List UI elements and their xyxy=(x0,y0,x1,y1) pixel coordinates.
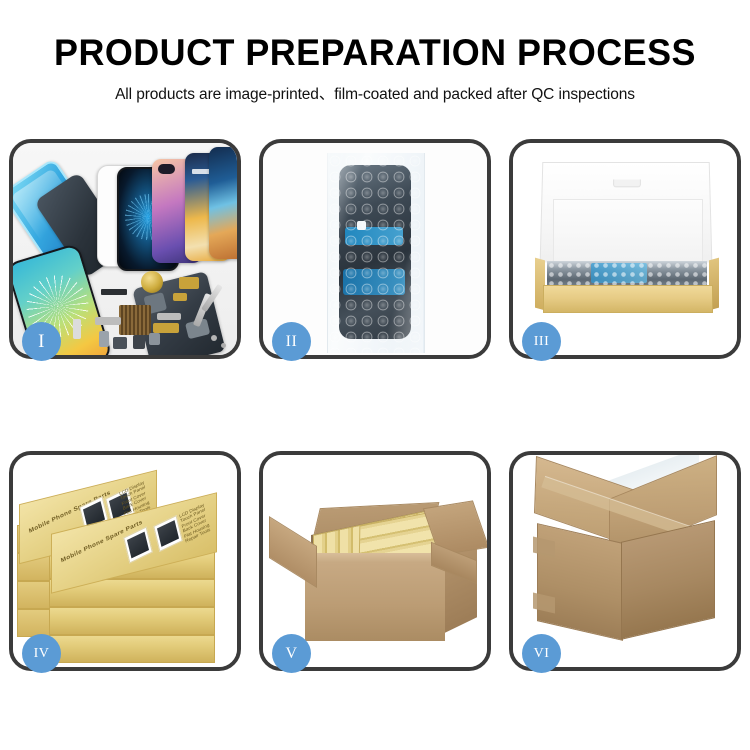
step-panel-2[interactable]: II xyxy=(259,139,491,359)
part-vibrator xyxy=(133,335,145,349)
process-step-grid: I II III xyxy=(9,139,741,671)
box-contents-bubble-wrapped xyxy=(547,261,707,287)
phone-gradient-device xyxy=(209,147,237,259)
sealed-carton-side-face xyxy=(621,520,715,640)
part-screw-b xyxy=(221,343,226,348)
step-panel-1[interactable]: I xyxy=(9,139,241,359)
stacked-box-front-3 xyxy=(49,607,215,635)
part-screw-a xyxy=(211,335,217,341)
part-flex-cable-b xyxy=(173,293,187,301)
part-gold-coil xyxy=(141,271,163,293)
part-speaker-strip xyxy=(101,289,127,295)
step-badge-4: IV xyxy=(22,634,61,673)
part-bracket-b xyxy=(157,313,181,320)
page-header: PRODUCT PREPARATION PROCESS All products… xyxy=(0,0,750,104)
step-badge-1: I xyxy=(22,322,61,361)
bubble-wrap-gloss xyxy=(327,153,423,353)
step-badge-5: V xyxy=(272,634,311,673)
part-sim-tray xyxy=(99,331,109,347)
part-flex-cable-a xyxy=(179,277,199,289)
part-connector-grid xyxy=(119,305,151,335)
carton-front-face xyxy=(305,563,445,641)
part-bracket-a xyxy=(95,317,121,325)
part-flex-cable-c xyxy=(153,323,179,333)
step-badge-2: II xyxy=(272,322,311,361)
box-foam-insert xyxy=(553,199,703,267)
page-title: PRODUCT PREPARATION PROCESS xyxy=(11,34,739,71)
box-front-wall xyxy=(543,285,713,313)
carton-flap-left xyxy=(269,516,317,588)
step-panel-3[interactable]: III xyxy=(509,139,741,359)
page-subtitle: All products are image-printed、film-coat… xyxy=(0,82,750,104)
part-button xyxy=(149,333,160,345)
step-panel-4[interactable]: Mobile Phone Spare Parts LCD Display Tou… xyxy=(9,451,241,671)
box-checklist-front: LCD Display Touch Panel Front Cover Back… xyxy=(179,502,211,544)
part-camera-module xyxy=(113,337,127,349)
part-screw-pack xyxy=(73,319,81,339)
box-window-front-b xyxy=(153,515,183,552)
step-badge-3: III xyxy=(522,322,561,361)
step-panel-6[interactable]: VI xyxy=(509,451,741,671)
step-badge-6: VI xyxy=(522,634,561,673)
stacked-box-front-4 xyxy=(49,635,215,663)
step-panel-5[interactable]: V xyxy=(259,451,491,671)
